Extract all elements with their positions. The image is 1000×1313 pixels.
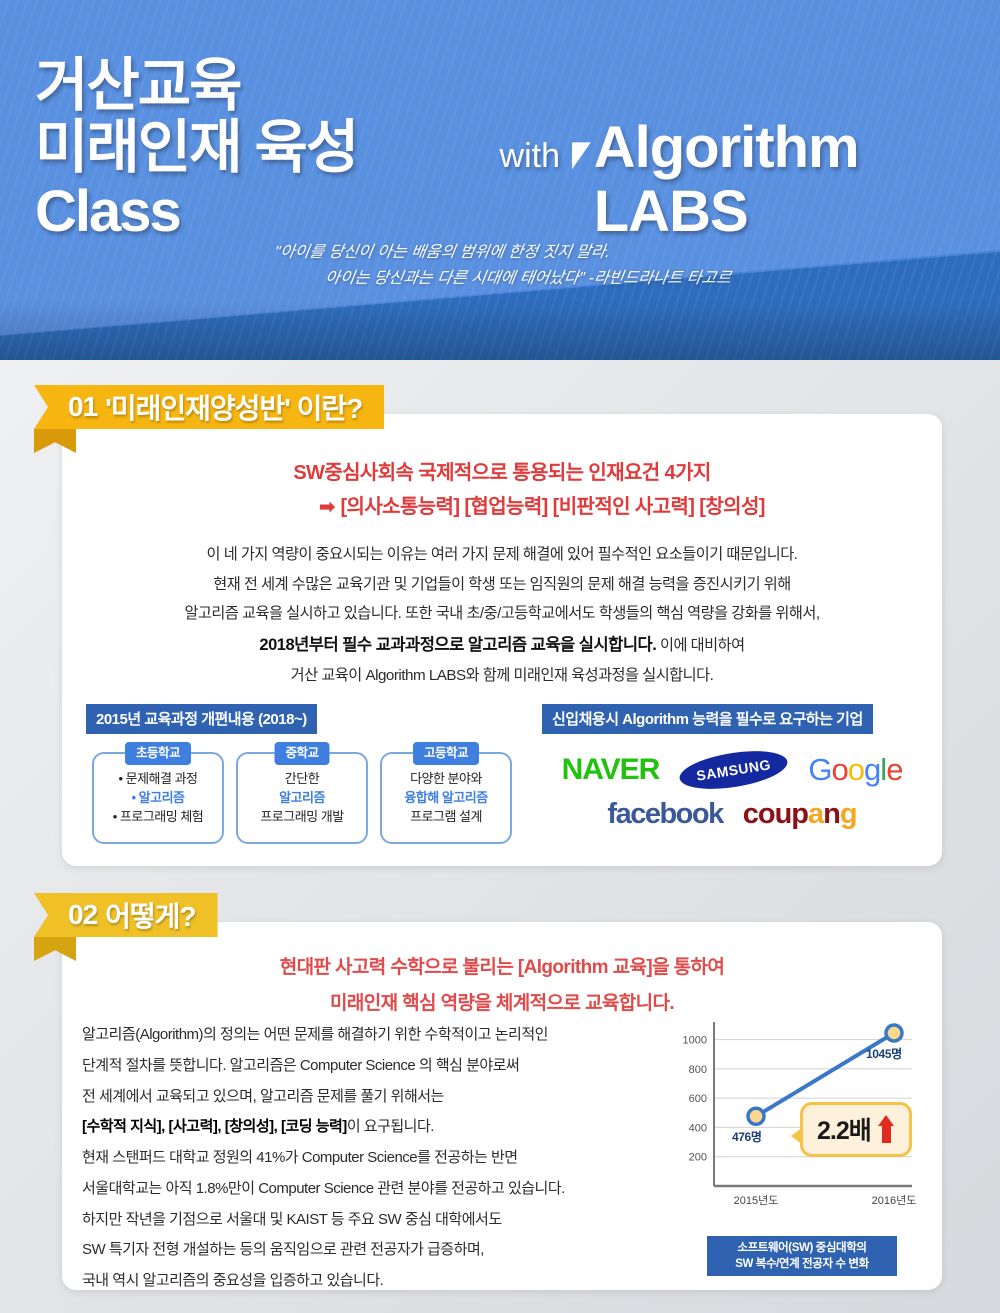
curriculum-card-line-3: 프로그램 설계 [382,808,510,827]
s2-body-line-1: 알고리즘(Algorithm)의 정의는 어떤 문제를 해결하기 위한 수학적이… [82,1020,682,1051]
section-02-ribbon-body: 02 어떻게? [34,893,218,937]
x-tick-label: 2015년도 [734,1194,779,1207]
section-01-heading-1: SW중심사회속 국제적으로 통용되는 인재요건 4가지 [62,456,942,485]
s2-body-line-5: 현재 스탠퍼드 대학교 정원의 41%가 Computer Science를 전… [82,1143,682,1174]
curriculum-card-line-2: 알고리즘 [238,789,366,808]
s2-body-line-8: SW 특기자 전형 개설하는 등의 움직임으로 관련 전공자가 급증하며, [82,1235,682,1266]
y-tick-label: 400 [689,1122,707,1134]
title-line-2-main: 미래인재 육성 Class [35,116,486,244]
curriculum-card-row: 초등학교 • 문제해결 과정 • 알고리즘 • 프로그래밍 체험 중학교 간단한… [86,752,526,844]
x-tick-label: 2016년도 [872,1194,917,1207]
callout-tail [791,1127,803,1145]
chart-caption-line-1: 소프트웨어(SW) 중심대학의 [713,1240,891,1256]
brand-name: Algorithm LABS [594,116,1000,244]
y-tick-label: 600 [689,1093,707,1105]
coupang-part-4: g [840,798,857,830]
y-tick-label: 800 [689,1064,707,1076]
section-01-heading-2-text: [의사소통능력] [협업능력] [비판적인 사고력] [창의성] [341,496,765,518]
s2-body-line-4-bold: [수학적 지식], [사고력], [창의성], [코딩 능력] [82,1118,347,1135]
curriculum-card-line-1: 다양한 분야와 [382,770,510,789]
coupang-part-3: n [823,798,840,830]
curriculum-label: 2015년 교육과정 개편내용 (2018~) [86,704,317,734]
x-axis-tick-labels: 2015년도2016년도 [734,1194,917,1207]
curriculum-card-high: 고등학교 다양한 분야와 융합해 알고리즘 프로그램 설계 [380,752,512,844]
section-01-panel: SW중심사회속 국제적으로 통용되는 인재요건 4가지 ➡[의사소통능력] [협… [62,414,942,866]
y-tick-label: 1000 [683,1035,707,1047]
curriculum-card-caption: 중학교 [274,742,329,765]
quote-line-1: "아이를 당신이 아는 배움의 범위에 한정 짓지 말라. [273,244,611,261]
curriculum-block: 2015년 교육과정 개편내용 (2018~) 초등학교 • 문제해결 과정 •… [86,704,526,844]
company-logo-grid: NAVER SAMSUNG Google facebook coupang [542,752,922,831]
section-02-heading-line-1: 현대판 사고력 수학으로 불리는 [Algorithm 교육]을 통하여 [62,950,942,986]
section-02-number: 02 [68,899,97,931]
header-quote: "아이를 당신이 아는 배움의 범위에 한정 짓지 말라. 아이는 당신과는 다… [0,240,884,293]
body-line-3: 알고리즘 교육을 실시하고 있습니다. 또한 국내 초/중/고등학교에서도 학생… [62,599,942,629]
curriculum-card-line-1: 간단한 [238,770,366,789]
algorithm-labs-logo-icon [572,142,591,169]
section-02-body: 알고리즘(Algorithm)의 정의는 어떤 문제를 해결하기 위한 수학적이… [82,1020,682,1297]
curriculum-card-line-3: • 프로그래밍 체험 [94,808,222,827]
data-point-marker [748,1108,764,1124]
title-line-1: 거산교육 [35,56,1000,116]
s2-body-line-7: 하지만 작년을 기점으로 서울대 및 KAIST 등 주요 SW 중심 대학에서… [82,1205,682,1236]
s2-body-line-2: 단계적 절차를 뜻합니다. 알고리즘은 Computer Science 의 핵… [82,1051,682,1082]
chart-caption: 소프트웨어(SW) 중심대학의 SW 복수/연계 전공자 수 변화 [707,1236,897,1276]
companies-block: 신입채용시 Algorithm 능력을 필수로 요구하는 기업 NAVER SA… [542,704,922,831]
body-line-2: 현재 전 세계 수많은 교육기관 및 기업들이 학생 또는 임직원의 문제 해결… [62,570,942,600]
growth-callout: 2.2배 [800,1102,912,1157]
section-01-body: 이 네 가지 역량이 중요시되는 이유는 여러 가지 문제 해결에 있어 필수적… [62,540,942,691]
right-arrow-icon: ➡ [319,497,334,518]
section-01-number: 01 [68,391,97,423]
section-02-title: 어떻게? [105,895,195,935]
google-logo: Google [808,752,902,788]
section-01-ribbon-body: 01 '미래인재양성반' 이란? [34,385,384,429]
y-tick-label: 200 [689,1152,707,1164]
quote-line-2: 아이는 당신과는 다른 시대에 태어났다" -라빈드라나트 타고르 [0,266,880,292]
title-line-2: 미래인재 육성 Class with Algorithm LABS [35,116,1000,244]
section-02-heading: 현대판 사고력 수학으로 불리는 [Algorithm 교육]을 통하여 미래인… [62,950,942,1022]
section-01-heading-2: ➡[의사소통능력] [협업능력] [비판적인 사고력] [창의성] [62,490,942,519]
coupang-part-2: a [808,798,823,830]
up-arrow-icon [878,1115,895,1143]
section-02-panel: 현대판 사고력 수학으로 불리는 [Algorithm 교육]을 통하여 미래인… [62,922,942,1290]
curriculum-card-middle: 중학교 간단한 알고리즘 프로그래밍 개발 [236,752,368,844]
data-point-label-2015: 476명 [732,1128,761,1145]
coupang-part-1: coup [743,798,808,830]
company-logo-row-2: facebook coupang [607,798,856,831]
s2-body-line-9: 국내 역시 알고리즘의 중요성을 입증하고 있습니다. [82,1266,682,1297]
curriculum-card-line-2: 융합해 알고리즘 [382,789,510,808]
coupang-logo: coupang [743,798,857,831]
section-01-ribbon: 01 '미래인재양성반' 이란? [34,385,384,429]
body-line-1: 이 네 가지 역량이 중요시되는 이유는 여러 가지 문제 해결에 있어 필수적… [62,540,942,570]
naver-logo: NAVER [562,753,660,787]
facebook-logo: facebook [607,798,722,831]
body-line-4-rest: 이에 대비하여 [656,637,744,654]
curriculum-card-line-3: 프로그래밍 개발 [238,808,366,827]
samsung-logo: SAMSUNG [677,745,790,796]
section-02-ribbon: 02 어떻게? [34,893,218,937]
curriculum-card-elementary: 초등학교 • 문제해결 과정 • 알고리즘 • 프로그래밍 체험 [92,752,224,844]
title-with-word: with [500,138,560,175]
company-logo-row-1: NAVER SAMSUNG Google [562,752,903,788]
section-01-title: '미래인재양성반' 이란? [105,387,362,427]
s2-body-line-6: 서울대학교는 아직 1.8%만이 Computer Science 관련 분야를… [82,1174,682,1205]
body-line-5: 거산 교육이 Algorithm LABS와 함께 미래인재 육성과정을 실시합… [62,661,942,691]
s2-body-line-4-rest: 이 요구됩니다. [347,1118,434,1135]
data-point-marker [886,1025,902,1041]
sw-major-growth-chart: 2004006008001000 2015년도2016년도 476명 1045명… [662,1014,932,1276]
companies-label: 신입채용시 Algorithm 능력을 필수로 요구하는 기업 [542,704,873,734]
curriculum-card-line-1: • 문제해결 과정 [94,770,222,789]
curriculum-card-line-2: • 알고리즘 [94,789,222,808]
s2-body-line-4: [수학적 지식], [사고력], [창의성], [코딩 능력]이 요구됩니다. [82,1112,682,1143]
y-axis-tick-labels: 2004006008001000 [683,1035,707,1164]
s2-body-line-3: 전 세계에서 교육되고 있으며, 알고리즘 문제를 풀기 위해서는 [82,1082,682,1113]
data-point-label-2016: 1045명 [866,1045,902,1062]
body-line-4: 2018년부터 필수 교과과정으로 알고리즘 교육을 실시합니다. 이에 대비하… [62,629,942,661]
page-title: 거산교육 미래인재 육성 Class with Algorithm LABS [35,56,1000,244]
chart-caption-line-2: SW 복수/연계 전공자 수 변화 [713,1256,891,1272]
callout-text: 2.2배 [817,1111,871,1147]
page-header: 거산교육 미래인재 육성 Class with Algorithm LABS "… [0,0,1000,360]
curriculum-card-caption: 초등학교 [125,742,191,765]
curriculum-card-caption: 고등학교 [413,742,479,765]
body-line-4-bold: 2018년부터 필수 교과과정으로 알고리즘 교육을 실시합니다. [259,636,656,654]
